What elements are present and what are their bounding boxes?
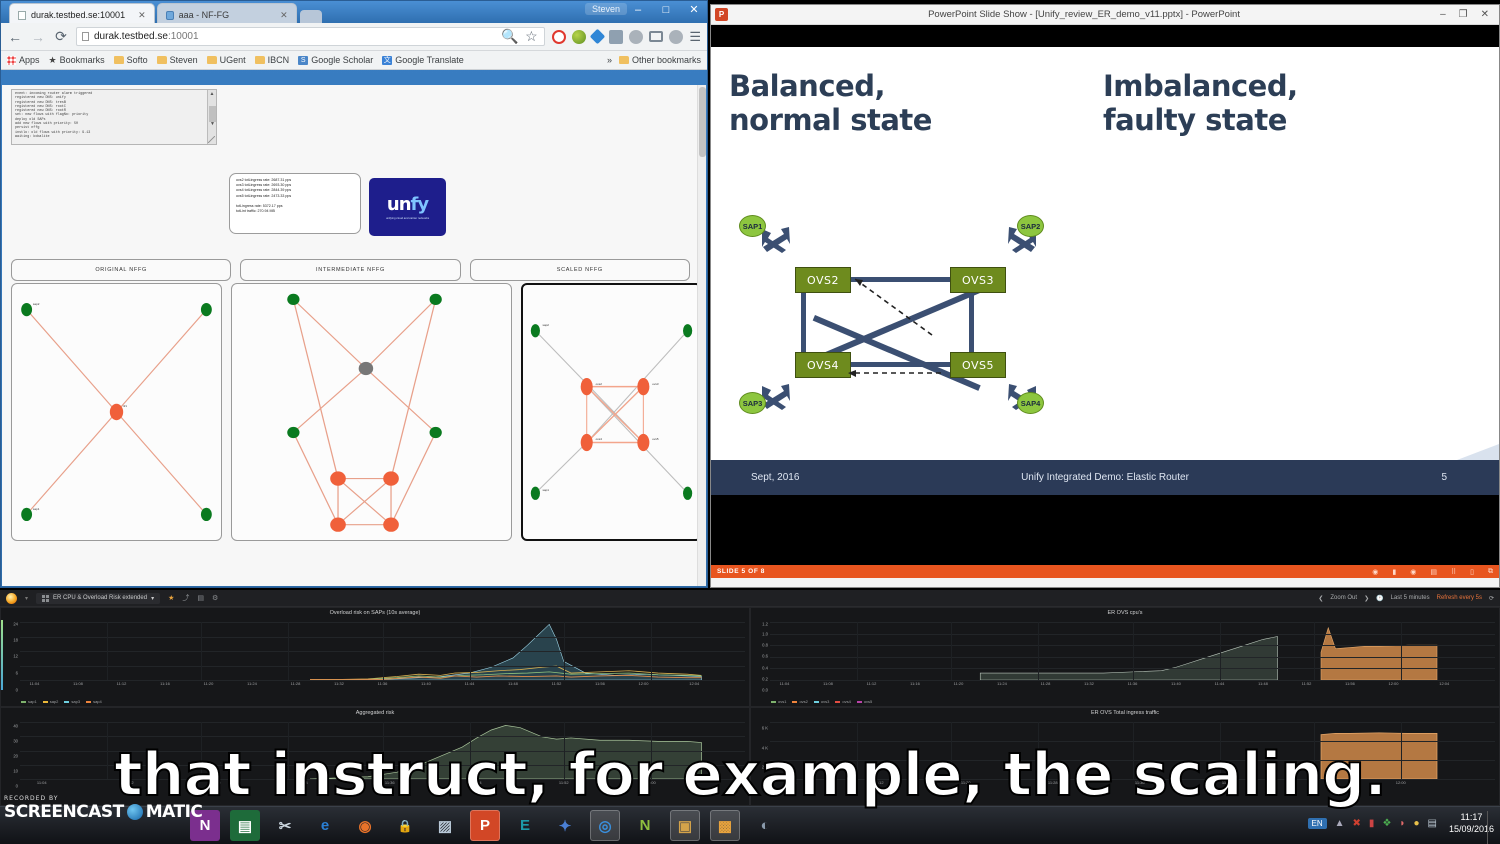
extension-icons: ☰ bbox=[552, 29, 701, 45]
x-tick: 11:04 bbox=[30, 681, 40, 686]
y-tick: 20 bbox=[13, 753, 18, 758]
event-log-textarea[interactable]: event: incoming router alarm triggered r… bbox=[11, 89, 217, 145]
slide-corner-fold bbox=[1457, 444, 1499, 460]
y-tick: 12 bbox=[13, 654, 18, 659]
scholar-icon: S bbox=[298, 56, 308, 65]
taskbar-grafana[interactable]: ▩ bbox=[710, 810, 740, 841]
taskbar-items: N ▤ ✂ e ◉ 🔒 ▨ P E ✦ ◎ N ▣ ▩ ◐ bbox=[190, 810, 780, 841]
new-tab-button[interactable] bbox=[300, 10, 322, 23]
y-tick: 10 bbox=[13, 769, 18, 774]
folder-icon bbox=[207, 56, 217, 64]
x-tick: 12:00 bbox=[1388, 681, 1398, 686]
node-label-nf1: nf1 bbox=[123, 404, 127, 408]
node-label-sap2: sap2 bbox=[542, 323, 549, 327]
y-tick: 18 bbox=[13, 637, 18, 642]
grafana-topbar: ▾ ER CPU & Overload Risk extended ▾ ★ ⤴ … bbox=[0, 590, 1500, 607]
x-tick: 11:40 bbox=[421, 681, 431, 686]
legend-item: ovs4 bbox=[835, 699, 850, 704]
user-profile-chip[interactable]: Steven bbox=[585, 3, 627, 15]
tab-close-icon[interactable]: ✕ bbox=[272, 10, 288, 21]
x-tick: 11:24 bbox=[247, 681, 257, 686]
x-tick: 11:12 bbox=[124, 780, 134, 785]
chrome-tab-strip: durak.testbed.se:10001 ✕ aaa - NF-FG ✕ bbox=[9, 3, 322, 23]
taskbar-screencast-app[interactable]: ▣ bbox=[670, 810, 700, 841]
time-next-icon[interactable]: ❯ bbox=[1364, 595, 1369, 602]
x-tick: 11:08 bbox=[823, 681, 833, 686]
x-tick: 11:44 bbox=[1215, 681, 1225, 686]
panel-overload-risk-saps[interactable]: Overload risk on SAPs (10s average) 0 6 … bbox=[0, 607, 750, 707]
x-tick: 11:20 bbox=[961, 780, 971, 785]
taskbar-excel-doc[interactable]: ▤ bbox=[230, 810, 260, 841]
close-button[interactable]: ✕ bbox=[685, 3, 703, 16]
legend: ovs1 ovs2 ovs3 ovs4 ovs5 bbox=[771, 699, 872, 704]
slide-canvas: Balanced,normal state Imbalanced,faulty … bbox=[711, 47, 1499, 495]
windows-taskbar: N ▤ ✂ e ◉ 🔒 ▨ P E ✦ ◎ N ▣ ▩ ◐ EN ▲ ✖ ▮ ❖… bbox=[0, 806, 1500, 844]
close-button[interactable]: ✕ bbox=[1481, 9, 1489, 20]
slide-footer: Sept, 2016 Unify Integrated Demo: Elasti… bbox=[711, 460, 1499, 495]
x-tick: 11:48 bbox=[508, 681, 518, 686]
screencast-watermark: RECORDED BY SCREENCAST MATIC bbox=[4, 795, 202, 822]
taskbar-powerpoint[interactable]: P bbox=[470, 810, 500, 841]
plot-area: 0 10 20 30 40 bbox=[1, 720, 749, 789]
grid-area bbox=[770, 722, 1495, 779]
pen-icon[interactable]: ▮ bbox=[1392, 568, 1396, 576]
y-tick: 6 K bbox=[762, 726, 768, 731]
unify-wordmark: unfy bbox=[387, 194, 428, 215]
settings-icon[interactable]: ⚙ bbox=[212, 594, 218, 602]
recorded-by-label: RECORDED BY bbox=[4, 795, 202, 802]
y-tick: 0.4 bbox=[762, 665, 768, 670]
grid-area bbox=[20, 622, 745, 680]
y-tick: 0.6 bbox=[762, 654, 768, 659]
grafana-panel-grid: Overload risk on SAPs (10s average) 0 6 … bbox=[0, 607, 1500, 806]
x-tick: 11:24 bbox=[997, 681, 1007, 686]
restore-button[interactable]: ❐ bbox=[1459, 9, 1468, 20]
legend-item: ovs1 bbox=[771, 699, 786, 704]
back-icon[interactable]: ← bbox=[7, 29, 23, 45]
slideshow-status-bar: SLIDE 5 OF 8 ◉ ▮ ◉ ▤ ⠿ ▯ ⧉ bbox=[711, 565, 1499, 578]
taskbar-internet-explorer[interactable]: e bbox=[310, 810, 340, 841]
desktop-screen: durak.testbed.se:10001 ✕ aaa - NF-FG ✕ S… bbox=[0, 0, 1500, 844]
bookmark-google-scholar[interactable]: SGoogle Scholar bbox=[298, 55, 373, 65]
x-tick: 12:04 bbox=[1439, 681, 1449, 686]
bookmark-ugent[interactable]: UGent bbox=[207, 55, 246, 65]
node-label-ovs5: ovs5 bbox=[652, 437, 658, 441]
address-bar[interactable]: durak.testbed.se:10001 🔍 ☆ bbox=[76, 27, 545, 46]
x-tick: 12:04 bbox=[689, 681, 699, 686]
x-tick: 11:16 bbox=[160, 681, 170, 686]
scroll-up-icon[interactable]: ▲ bbox=[208, 90, 216, 98]
slide-heading-right: Imbalanced,faulty state bbox=[1103, 69, 1298, 137]
x-tick: 11:36 bbox=[1128, 681, 1138, 686]
panel-title: Overload risk on SAPs (10s average) bbox=[1, 608, 749, 616]
taskbar-editor-app[interactable]: E bbox=[510, 810, 540, 841]
browser-tab-2[interactable]: aaa - NF-FG ✕ bbox=[157, 3, 297, 23]
panel-title: ER OVS Total ingress traffic bbox=[751, 708, 1499, 716]
x-tick: 11:36 bbox=[385, 780, 395, 785]
folder-icon bbox=[619, 56, 629, 64]
plot-area: 0.0 0.2 0.4 0.6 0.8 1.0 1.2 bbox=[751, 620, 1499, 690]
folder-icon bbox=[157, 56, 167, 64]
bookmark-google-translate[interactable]: 文Google Translate bbox=[382, 55, 464, 65]
y-tick: 0.2 bbox=[762, 676, 768, 681]
network-icon[interactable]: ❖ bbox=[1382, 818, 1391, 829]
prev-slide-icon[interactable]: ◉ bbox=[1372, 568, 1378, 576]
legend-item: sap4 bbox=[86, 699, 102, 704]
chrome-browser-window: durak.testbed.se:10001 ✕ aaa - NF-FG ✕ S… bbox=[0, 0, 708, 588]
x-tick: 11:44 bbox=[465, 681, 475, 686]
x-tick: 11:52 bbox=[1302, 681, 1312, 686]
taskbar-security-app[interactable]: 🔒 bbox=[390, 810, 420, 841]
x-tick: 11:04 bbox=[780, 681, 790, 686]
legend-item: sap2 bbox=[43, 699, 59, 704]
bookmarks-overflow-icon[interactable]: » bbox=[607, 55, 612, 65]
powerpoint-titlebar[interactable]: P PowerPoint Slide Show - [Unify_review_… bbox=[711, 5, 1499, 25]
y-tick: 6 bbox=[16, 671, 18, 676]
x-tick: 12:00 bbox=[1396, 780, 1406, 785]
y-tick: 0 bbox=[16, 688, 18, 693]
taskbar-paint-tool[interactable]: ✂ bbox=[270, 810, 300, 841]
x-tick: 11:20 bbox=[954, 681, 964, 686]
tab-title: durak.testbed.se:10001 bbox=[31, 10, 125, 20]
y-axis: 0 10 20 30 40 bbox=[3, 720, 19, 789]
chevron-down-icon: ▾ bbox=[151, 595, 154, 602]
share-icon[interactable]: ⤴ bbox=[182, 593, 189, 603]
slide-heading-left: Balanced,normal state bbox=[729, 69, 932, 137]
panel-title: Aggregated risk bbox=[1, 708, 749, 716]
x-tick: 11:56 bbox=[595, 681, 605, 686]
options-icon[interactable]: ⧉ bbox=[1488, 568, 1493, 576]
tab-original-nffg[interactable]: ORIGINAL NFFG bbox=[11, 259, 231, 281]
star-icon: ★ bbox=[49, 55, 57, 66]
time-prev-icon[interactable]: ❮ bbox=[1318, 595, 1323, 602]
grid-area bbox=[20, 722, 745, 779]
event-log-text: event: incoming router alarm triggered r… bbox=[12, 90, 216, 141]
x-tick: 11:28 bbox=[1048, 780, 1058, 785]
page-info-icon[interactable] bbox=[82, 32, 89, 41]
bookmark-ibcn[interactable]: IBCN bbox=[255, 55, 290, 65]
y-tick: 1.2 bbox=[762, 621, 768, 626]
x-tick: 11:20 bbox=[204, 681, 214, 686]
next-slide-icon[interactable]: ◉ bbox=[1410, 568, 1416, 576]
x-tick: 12:00 bbox=[638, 681, 648, 686]
x-tick: 11:52 bbox=[552, 681, 562, 686]
intermediate-graph-svg bbox=[232, 284, 511, 540]
grid-icon[interactable]: ⠿ bbox=[1451, 568, 1456, 576]
x-tick: 11:28 bbox=[298, 780, 308, 785]
y-tick: 24 bbox=[13, 622, 18, 627]
star-icon[interactable]: ★ bbox=[168, 594, 174, 602]
url-text: durak.testbed.se:10001 bbox=[94, 31, 199, 42]
other-bookmarks-folder[interactable]: Other bookmarks bbox=[619, 55, 701, 65]
x-tick: 11:56 bbox=[1345, 681, 1355, 686]
x-tick: 12:00 bbox=[646, 780, 656, 785]
printer-icon[interactable]: ▤ bbox=[1428, 818, 1437, 829]
ingress-stats-panel: ovs2 totLingress rate: 2687.31 pps ovs3 … bbox=[229, 173, 361, 234]
bookmarks-bar: Apps ★Bookmarks Softo Steven UGent IBCN … bbox=[1, 51, 707, 70]
volume-icon[interactable]: ◗ bbox=[1399, 818, 1405, 829]
y-tick: 4 K bbox=[762, 745, 768, 750]
watermark-brand: SCREENCAST MATIC bbox=[4, 802, 202, 822]
graph-original-nffg[interactable]: sap2 sap1 nf1 bbox=[11, 283, 222, 541]
minimize-button[interactable]: – bbox=[629, 4, 647, 16]
legend: sap1 sap2 sap3 sap4 bbox=[21, 699, 102, 704]
legend-item: ovs3 bbox=[814, 699, 829, 704]
zoom-out-button[interactable]: Zoom Out bbox=[1330, 595, 1357, 601]
panel-er-ovs-cpus[interactable]: ER OVS cpu's 0.0 0.2 0.4 0.6 0.8 1.0 1.2 bbox=[750, 607, 1500, 707]
chrome-titlebar[interactable]: durak.testbed.se:10001 ✕ aaa - NF-FG ✕ S… bbox=[1, 1, 707, 23]
tab-scaled-nffg[interactable]: SCALED NFFG bbox=[470, 259, 690, 281]
y-tick: 2 K bbox=[762, 764, 768, 769]
show-desktop-button[interactable] bbox=[1487, 811, 1494, 844]
time-range-picker[interactable]: Last 5 minutes bbox=[1391, 595, 1430, 601]
x-tick: 11:12 bbox=[117, 681, 127, 686]
node-label-ovs3: ovs3 bbox=[652, 382, 658, 386]
node-label-sap1: sap1 bbox=[542, 488, 549, 492]
y-tick: 1.0 bbox=[762, 632, 768, 637]
blackout-icon[interactable]: ▯ bbox=[1470, 568, 1474, 576]
x-tick: 11:28 bbox=[1041, 681, 1051, 686]
elastic-router-diagram: OVS2 OVS3 OVS4 OVS5 SAP1 SAP2 SAP3 SAP4 bbox=[735, 207, 1065, 427]
slide-page-number: 5 bbox=[1441, 472, 1447, 483]
x-tick: 11:08 bbox=[73, 681, 83, 686]
graph-scaled-nffg[interactable]: sap2 sap1 ovs2 ovs3 ovs4 ovs5 bbox=[521, 283, 702, 541]
gray-extension-icon[interactable] bbox=[629, 30, 643, 44]
chrome-menu-icon[interactable]: ☰ bbox=[689, 29, 701, 45]
taskbar-notes-app[interactable]: ▨ bbox=[430, 810, 460, 841]
grid-area bbox=[770, 622, 1495, 680]
graph-intermediate-nffg[interactable] bbox=[231, 283, 512, 541]
slide-counter: SLIDE 5 OF 8 bbox=[717, 568, 765, 575]
maximize-button[interactable]: □ bbox=[657, 4, 675, 16]
window-controls: – □ ✕ bbox=[629, 3, 703, 16]
tab-favicon bbox=[18, 11, 26, 20]
legend-item: ovs2 bbox=[792, 699, 807, 704]
chevron-down-icon[interactable]: ▾ bbox=[25, 595, 28, 602]
unify-logo: unfy unifying cloud and carrier networks bbox=[369, 178, 446, 236]
x-tick: 11:52 bbox=[1309, 780, 1319, 785]
powerpoint-window: P PowerPoint Slide Show - [Unify_review_… bbox=[710, 4, 1500, 588]
legend-item: sap3 bbox=[64, 699, 80, 704]
panel-title: ER OVS cpu's bbox=[751, 608, 1499, 616]
dashboard-picker[interactable]: ER CPU & Overload Risk extended ▾ bbox=[36, 593, 160, 604]
reload-icon[interactable]: ⟳ bbox=[53, 28, 69, 45]
warning-icon[interactable]: ● bbox=[1413, 818, 1419, 829]
x-tick: 11:40 bbox=[1171, 681, 1181, 686]
x-tick: 11:12 bbox=[874, 780, 884, 785]
x-axis: 11:04 11:12 11:20 11:28 11:36 11:44 11:5… bbox=[770, 780, 1495, 789]
x-tick: 11:48 bbox=[1258, 681, 1268, 686]
x-tick: 11:20 bbox=[211, 780, 221, 785]
taskbar-firefox[interactable]: ◉ bbox=[350, 810, 380, 841]
x-tick: 11:12 bbox=[867, 681, 877, 686]
apps-grid-icon bbox=[7, 56, 16, 65]
antivirus-icon[interactable]: ✖ bbox=[1353, 818, 1361, 829]
scaled-graph-svg bbox=[523, 285, 700, 539]
translate-icon: 文 bbox=[382, 56, 392, 65]
x-tick: 11:04 bbox=[37, 780, 47, 785]
plot-area: 0 6 12 18 24 bbox=[1, 620, 749, 690]
refresh-interval[interactable]: Refresh every 5s bbox=[1437, 595, 1482, 601]
x-tick: 11:36 bbox=[1135, 780, 1145, 785]
resize-handle[interactable] bbox=[208, 136, 215, 143]
system-tray: EN ▲ ✖ ▮ ❖ ◗ ● ▤ 11:17 15/09/2016 bbox=[1308, 811, 1495, 835]
nffg-graph-panels: sap2 sap1 nf1 bbox=[11, 283, 690, 541]
tab-title: aaa - NF-FG bbox=[179, 10, 230, 20]
taskbar-blender[interactable]: ✦ bbox=[550, 810, 580, 841]
watermark-name-b: MATIC bbox=[146, 802, 203, 822]
watermark-name-a: SCREENCAST bbox=[4, 802, 124, 822]
flow-arrows-svg bbox=[735, 207, 1065, 427]
tab-intermediate-nffg[interactable]: INTERMEDIATE NFFG bbox=[240, 259, 460, 281]
slideshow-area[interactable]: Balanced,normal state Imbalanced,faulty … bbox=[711, 25, 1499, 578]
nffg-tab-row: ORIGINAL NFFG INTERMEDIATE NFFG SCALED N… bbox=[11, 259, 690, 281]
unify-tagline: unifying cloud and carrier networks bbox=[386, 217, 429, 221]
grafana-logo-icon[interactable] bbox=[6, 593, 17, 604]
scroll-down-icon[interactable]: ▼ bbox=[208, 120, 217, 128]
tab-close-icon[interactable]: ✕ bbox=[130, 10, 146, 21]
x-axis: 11:04 11:08 11:12 11:16 11:20 11:24 11:2… bbox=[20, 681, 745, 690]
powerpoint-icon: P bbox=[715, 8, 728, 21]
search-icon[interactable]: 🔍 bbox=[501, 28, 517, 45]
node-label-ovs2: ovs2 bbox=[596, 382, 602, 386]
folder-icon bbox=[114, 56, 124, 64]
bookmark-softo[interactable]: Softo bbox=[114, 55, 148, 65]
notes-icon[interactable]: ▤ bbox=[1430, 568, 1437, 576]
save-icon[interactable]: ▤ bbox=[197, 594, 204, 602]
browser-tab-1[interactable]: durak.testbed.se:10001 ✕ bbox=[9, 3, 155, 23]
diamond-extension-icon[interactable] bbox=[590, 29, 606, 45]
grafana-dashboard: ▾ ER CPU & Overload Risk extended ▾ ★ ⤴ … bbox=[0, 590, 1500, 806]
stat-traffic-line: totLint traffic: 270.94 MB bbox=[236, 209, 354, 214]
y-tick: 30 bbox=[13, 738, 18, 743]
x-tick: 11:32 bbox=[1084, 681, 1094, 686]
opera-extension-icon[interactable] bbox=[552, 30, 566, 44]
x-axis: 11:04 11:12 11:20 11:28 11:36 11:44 11:5… bbox=[20, 780, 745, 789]
bookmark-apps[interactable]: Apps bbox=[7, 55, 40, 65]
panel-er-ovs-total-ingress[interactable]: ER OVS Total ingress traffic 0 2 K 4 K 6… bbox=[750, 707, 1500, 806]
cast-icon[interactable] bbox=[649, 31, 663, 42]
bookmark-star-icon[interactable]: ☆ bbox=[523, 28, 539, 45]
watermark-logo-icon bbox=[127, 804, 143, 820]
x-tick: 11:04 bbox=[787, 780, 797, 785]
x-tick: 11:44 bbox=[472, 780, 482, 785]
x-tick: 11:52 bbox=[559, 780, 569, 785]
bookmark-bookmarks[interactable]: ★Bookmarks bbox=[49, 55, 105, 66]
tab-favicon bbox=[166, 11, 174, 20]
pdf-icon[interactable]: ▮ bbox=[1369, 818, 1375, 829]
dashboard-grid-icon bbox=[42, 595, 49, 602]
x-tick: 11:36 bbox=[378, 681, 388, 686]
node-label-sap2: sap2 bbox=[33, 302, 40, 306]
y-tick: 0 bbox=[16, 784, 18, 789]
clock-icon: 🕐 bbox=[1376, 595, 1383, 602]
x-tick: 11:28 bbox=[291, 681, 301, 686]
language-indicator[interactable]: EN bbox=[1308, 818, 1327, 829]
x-axis: 11:04 11:08 11:12 11:16 11:20 11:24 11:2… bbox=[770, 681, 1495, 690]
minimize-button[interactable]: – bbox=[1440, 9, 1446, 20]
chrome-toolbar: ← → ⟳ durak.testbed.se:10001 🔍 ☆ ☰ bbox=[1, 23, 707, 51]
taskbar-explorer[interactable]: ◐ bbox=[750, 810, 780, 841]
folder-icon bbox=[255, 56, 265, 64]
taskbar-nffg-app[interactable]: N bbox=[630, 810, 660, 841]
bookmark-steven[interactable]: Steven bbox=[157, 55, 198, 65]
page-scrollbar-thumb[interactable] bbox=[699, 87, 706, 157]
slide-footer-date: Sept, 2016 bbox=[751, 472, 799, 483]
x-tick: 11:16 bbox=[910, 681, 920, 686]
y-tick: 40 bbox=[13, 723, 18, 728]
legend-item: ovs5 bbox=[857, 699, 872, 704]
x-tick: 11:32 bbox=[334, 681, 344, 686]
plot-area: 0 2 K 4 K 6 K bbox=[751, 720, 1499, 789]
show-hidden-icon[interactable]: ▲ bbox=[1335, 818, 1345, 829]
forward-icon[interactable]: → bbox=[30, 29, 46, 45]
leaf-extension-icon[interactable] bbox=[572, 30, 586, 44]
y-tick: 0 bbox=[766, 784, 768, 789]
y-tick: 0.8 bbox=[762, 643, 768, 648]
y-axis: 0 6 12 18 24 bbox=[3, 620, 19, 690]
legend-item: sap1 bbox=[21, 699, 37, 704]
x-tick: 11:44 bbox=[1222, 780, 1232, 785]
y-axis: 0.0 0.2 0.4 0.6 0.8 1.0 1.2 bbox=[753, 620, 769, 690]
powerpoint-window-controls: – ❐ ✕ bbox=[1440, 9, 1495, 20]
slide-footer-title: Unify Integrated Demo: Elastic Router bbox=[711, 472, 1499, 483]
original-graph-svg bbox=[12, 284, 221, 540]
node-label-ovs4: ovs4 bbox=[596, 437, 602, 441]
panel-aggregated-risk[interactable]: Aggregated risk 0 10 20 30 40 bbox=[0, 707, 750, 806]
y-axis: 0 2 K 4 K 6 K bbox=[753, 720, 769, 789]
node-label-sap1: sap1 bbox=[33, 507, 40, 511]
taskbar-chrome[interactable]: ◎ bbox=[590, 810, 620, 841]
nffg-web-app: event: incoming router alarm triggered r… bbox=[2, 85, 706, 586]
page-scrollbar[interactable] bbox=[697, 85, 706, 586]
download-icon[interactable] bbox=[669, 30, 683, 44]
tool-extension-icon[interactable] bbox=[609, 30, 623, 44]
refresh-icon[interactable]: ⟳ bbox=[1489, 595, 1494, 602]
dashboard-title: ER CPU & Overload Risk extended bbox=[53, 595, 147, 601]
y-tick: 0.0 bbox=[762, 688, 768, 693]
powerpoint-window-title: PowerPoint Slide Show - [Unify_review_ER… bbox=[728, 9, 1440, 20]
